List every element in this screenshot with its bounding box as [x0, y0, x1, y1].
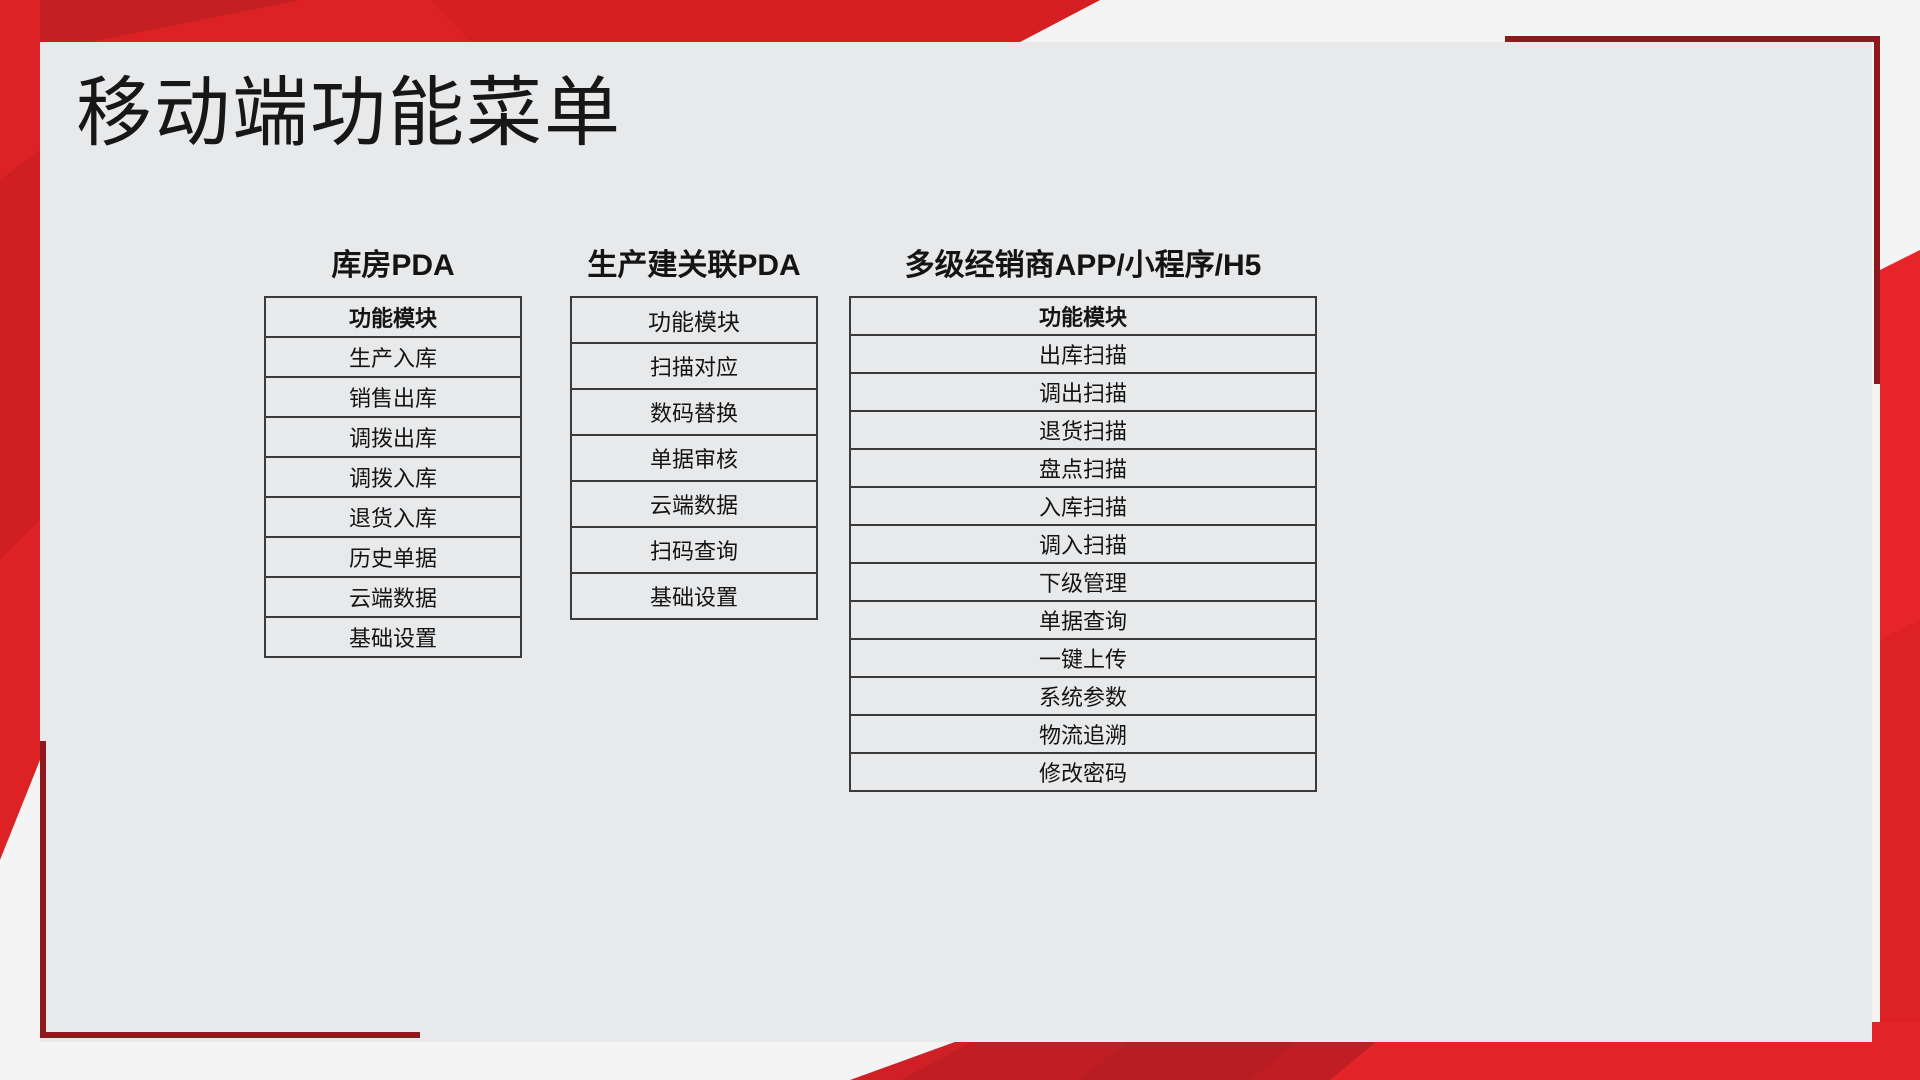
frame-line-bottom: [40, 1032, 420, 1038]
table-header-row: 功能模块: [850, 297, 1316, 335]
table-row[interactable]: 云端数据: [571, 481, 817, 527]
frame-line-top: [1505, 36, 1880, 42]
table-row[interactable]: 基础设置: [571, 573, 817, 619]
module-cell[interactable]: 调拨入库: [265, 457, 521, 497]
table-row[interactable]: 基础设置: [265, 617, 521, 657]
frame-line-left: [40, 741, 46, 1038]
slide-root: 移动端功能菜单 库房PDA 功能模块 生产入库 销售出库 调拨出库 调拨入库 退…: [0, 0, 1920, 1080]
frame-line-right: [1874, 36, 1880, 384]
module-cell[interactable]: 调出扫描: [850, 373, 1316, 411]
module-cell[interactable]: 盘点扫描: [850, 449, 1316, 487]
table-row[interactable]: 历史单据: [265, 537, 521, 577]
module-cell[interactable]: 基础设置: [571, 573, 817, 619]
module-cell[interactable]: 扫码查询: [571, 527, 817, 573]
table-row[interactable]: 单据查询: [850, 601, 1316, 639]
column-heading-warehouse-pda: 库房PDA: [264, 244, 522, 288]
module-cell[interactable]: 一键上传: [850, 639, 1316, 677]
table-row[interactable]: 盘点扫描: [850, 449, 1316, 487]
module-cell[interactable]: 系统参数: [850, 677, 1316, 715]
table-row[interactable]: 退货入库: [265, 497, 521, 537]
table-header-cell: 功能模块: [850, 297, 1316, 335]
table-row[interactable]: 扫码查询: [571, 527, 817, 573]
module-cell[interactable]: 扫描对应: [571, 343, 817, 389]
table-row[interactable]: 调入扫描: [850, 525, 1316, 563]
column-heading-dealer-app: 多级经销商APP/小程序/H5: [849, 244, 1317, 288]
table-row[interactable]: 扫描对应: [571, 343, 817, 389]
table-row[interactable]: 调拨出库: [265, 417, 521, 457]
table-row[interactable]: 修改密码: [850, 753, 1316, 791]
module-cell[interactable]: 单据审核: [571, 435, 817, 481]
module-cell[interactable]: 云端数据: [571, 481, 817, 527]
column-dealer-app: 多级经销商APP/小程序/H5 功能模块 出库扫描 调出扫描 退货扫描 盘点扫描…: [849, 244, 1317, 792]
table-row[interactable]: 物流追溯: [850, 715, 1316, 753]
table-warehouse-pda: 功能模块 生产入库 销售出库 调拨出库 调拨入库 退货入库 历史单据 云端数据 …: [264, 296, 522, 658]
module-cell[interactable]: 修改密码: [850, 753, 1316, 791]
module-cell[interactable]: 入库扫描: [850, 487, 1316, 525]
module-cell[interactable]: 历史单据: [265, 537, 521, 577]
table-row[interactable]: 单据审核: [571, 435, 817, 481]
column-heading-production-link-pda: 生产建关联PDA: [570, 244, 818, 288]
table-header-row: 功能模块: [265, 297, 521, 337]
table-header-row: 功能模块: [571, 297, 817, 343]
table-row[interactable]: 生产入库: [265, 337, 521, 377]
table-row[interactable]: 下级管理: [850, 563, 1316, 601]
module-cell[interactable]: 出库扫描: [850, 335, 1316, 373]
table-row[interactable]: 云端数据: [265, 577, 521, 617]
column-warehouse-pda: 库房PDA 功能模块 生产入库 销售出库 调拨出库 调拨入库 退货入库 历史单据…: [264, 244, 522, 658]
module-cell[interactable]: 调拨出库: [265, 417, 521, 457]
module-cell[interactable]: 基础设置: [265, 617, 521, 657]
table-row[interactable]: 调出扫描: [850, 373, 1316, 411]
column-production-link-pda: 生产建关联PDA 功能模块 扫描对应 数码替换 单据审核 云端数据 扫码查询 基…: [570, 244, 818, 620]
module-cell[interactable]: 单据查询: [850, 601, 1316, 639]
table-row[interactable]: 出库扫描: [850, 335, 1316, 373]
module-cell[interactable]: 生产入库: [265, 337, 521, 377]
table-row[interactable]: 调拨入库: [265, 457, 521, 497]
table-row[interactable]: 一键上传: [850, 639, 1316, 677]
module-cell[interactable]: 云端数据: [265, 577, 521, 617]
module-cell[interactable]: 下级管理: [850, 563, 1316, 601]
table-row[interactable]: 退货扫描: [850, 411, 1316, 449]
module-cell[interactable]: 物流追溯: [850, 715, 1316, 753]
table-production-link-pda: 功能模块 扫描对应 数码替换 单据审核 云端数据 扫码查询 基础设置: [570, 296, 818, 620]
module-cell[interactable]: 调入扫描: [850, 525, 1316, 563]
page-title: 移动端功能菜单: [76, 76, 622, 152]
table-header-cell: 功能模块: [571, 297, 817, 343]
module-cell[interactable]: 销售出库: [265, 377, 521, 417]
module-cell[interactable]: 退货扫描: [850, 411, 1316, 449]
table-row[interactable]: 销售出库: [265, 377, 521, 417]
table-header-cell: 功能模块: [265, 297, 521, 337]
table-row[interactable]: 数码替换: [571, 389, 817, 435]
module-cell[interactable]: 退货入库: [265, 497, 521, 537]
module-cell[interactable]: 数码替换: [571, 389, 817, 435]
table-dealer-app: 功能模块 出库扫描 调出扫描 退货扫描 盘点扫描 入库扫描 调入扫描 下级管理 …: [849, 296, 1317, 792]
table-row[interactable]: 系统参数: [850, 677, 1316, 715]
table-row[interactable]: 入库扫描: [850, 487, 1316, 525]
